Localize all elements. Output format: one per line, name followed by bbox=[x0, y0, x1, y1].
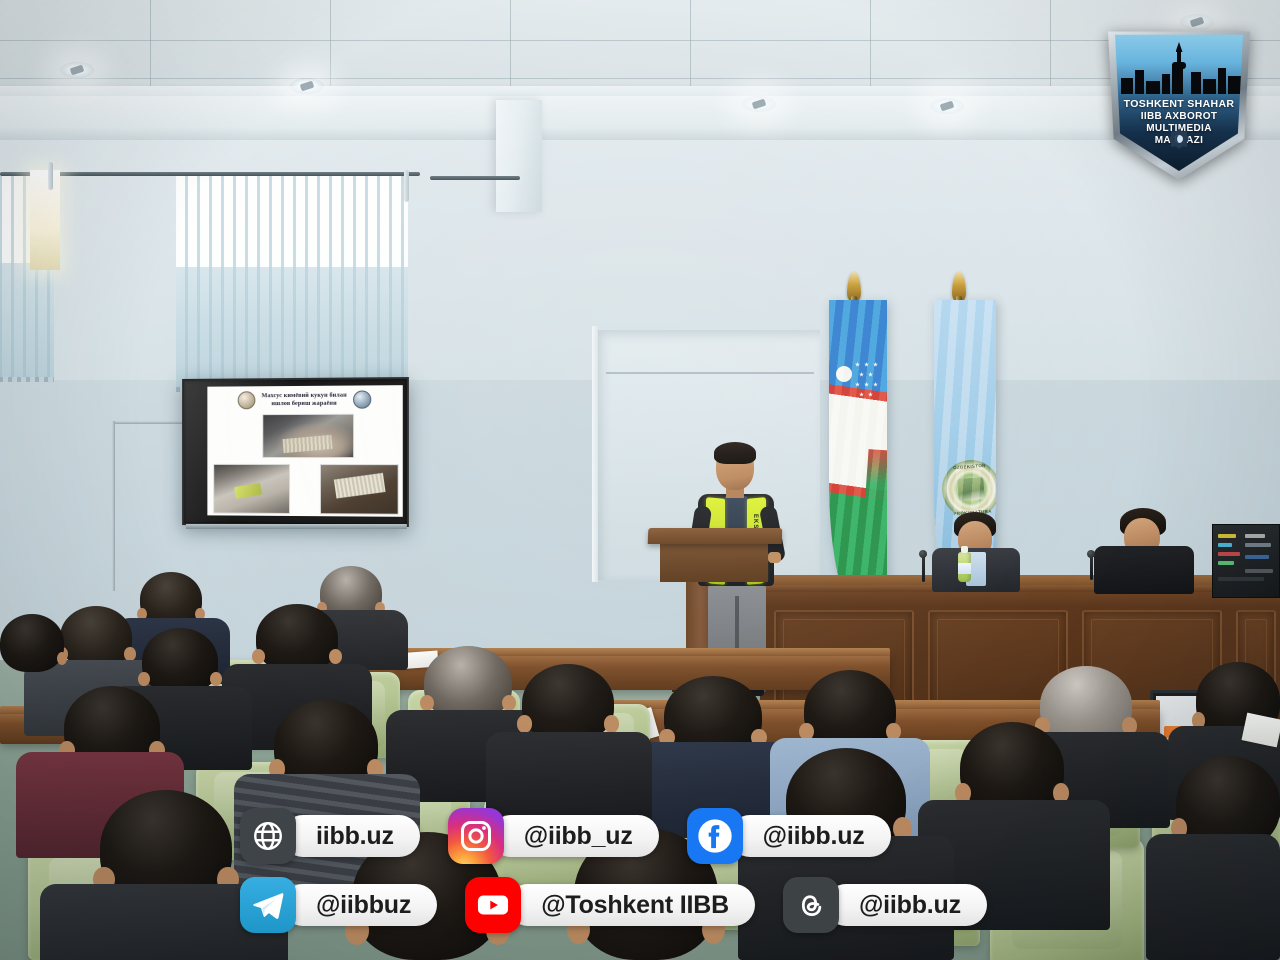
tashkent-skyline-icon bbox=[1115, 48, 1243, 94]
ceiling-spotlight-icon bbox=[742, 96, 776, 112]
audience-member bbox=[60, 606, 132, 668]
ceiling-spotlight-icon bbox=[930, 98, 964, 114]
ceiling-spotlight-icon bbox=[290, 78, 324, 94]
youtube-icon[interactable] bbox=[465, 877, 521, 933]
alcove-edge bbox=[592, 326, 598, 582]
slide-photo bbox=[262, 414, 354, 458]
social-item-facebook[interactable]: @iibb.uz bbox=[687, 808, 891, 864]
website-handle[interactable]: iibb.uz bbox=[282, 815, 420, 857]
audience-shoulders bbox=[1146, 834, 1280, 960]
ceiling-soffit bbox=[0, 96, 1280, 142]
photo-canvas: Махсус кимёвий кукун билан ишлов бериш ж… bbox=[0, 0, 1280, 960]
audience-member bbox=[522, 664, 614, 742]
alcove-trim-line bbox=[606, 372, 814, 374]
globe-icon[interactable] bbox=[240, 808, 296, 864]
facebook-icon[interactable] bbox=[687, 808, 743, 864]
ceiling-column-box bbox=[496, 100, 542, 212]
youtube-handle[interactable]: @Toshkent IIBB bbox=[507, 884, 755, 926]
curtain-rail bbox=[430, 176, 520, 180]
slide-photo bbox=[320, 464, 399, 515]
police-star-icon bbox=[1169, 129, 1189, 149]
microphone bbox=[1090, 556, 1093, 580]
seated-official bbox=[928, 512, 1024, 590]
seated-official bbox=[1094, 508, 1196, 594]
screen-base-trim bbox=[186, 524, 407, 529]
podium-body bbox=[660, 542, 768, 582]
slide-header: Махсус кимёвий кукун билан ишлов бериш ж… bbox=[207, 385, 402, 412]
blind-wand[interactable] bbox=[48, 162, 53, 190]
social-item-website[interactable]: iibb.uz bbox=[240, 808, 420, 864]
social-item-youtube[interactable]: @Toshkent IIBB bbox=[465, 877, 755, 933]
social-item-instagram[interactable]: @iibb_uz bbox=[448, 808, 659, 864]
uzbekistan-flag bbox=[829, 300, 887, 600]
microphone bbox=[922, 556, 925, 582]
logo-line-2: IIBB AXBOROT bbox=[1119, 111, 1239, 123]
audience-member bbox=[0, 614, 64, 672]
slide-photo-grid bbox=[207, 414, 402, 519]
water-bottle bbox=[958, 552, 971, 582]
social-media-bar: iibb.uz @iibb_uz bbox=[240, 808, 1060, 946]
blind-wand[interactable] bbox=[404, 170, 409, 202]
emblem-seal-icon bbox=[353, 390, 371, 408]
ceiling-spotlight-icon bbox=[60, 62, 94, 78]
podium-lectern-top bbox=[648, 528, 783, 544]
microphone-head-icon bbox=[919, 550, 927, 558]
emblem-seal-icon bbox=[238, 391, 256, 409]
instagram-handle[interactable]: @iibb_uz bbox=[490, 815, 659, 857]
telegram-icon[interactable] bbox=[240, 877, 296, 933]
threads-handle[interactable]: @iibb.uz bbox=[825, 884, 987, 926]
audience-member bbox=[424, 646, 512, 720]
slide-title: Махсус кимёвий кукун билан ишлов бериш ж… bbox=[262, 391, 347, 408]
social-item-threads[interactable]: @iibb.uz bbox=[783, 877, 987, 933]
av-equipment-rack bbox=[1212, 524, 1280, 598]
social-row-2: @iibbuz @Toshkent IIBB @iibb.uz bbox=[240, 877, 1060, 933]
telegram-handle[interactable]: @iibbuz bbox=[282, 884, 437, 926]
threads-icon[interactable] bbox=[783, 877, 839, 933]
slide-photo bbox=[213, 464, 290, 514]
window-center bbox=[176, 176, 408, 392]
logo-line-1: TOSHKENT SHAHAR bbox=[1119, 98, 1239, 111]
microphone-head-icon bbox=[1087, 550, 1095, 558]
screen-mount-rail bbox=[112, 421, 115, 591]
social-item-telegram[interactable]: @iibbuz bbox=[240, 877, 437, 933]
slide-content: Махсус кимёвий кукун билан ишлов бериш ж… bbox=[207, 385, 402, 517]
window-daylight bbox=[30, 170, 60, 270]
multimedia-center-logo: TOSHKENT SHAHAR IIBB AXBOROT MULTIMEDIA … bbox=[1108, 22, 1250, 180]
audience-member bbox=[142, 628, 218, 694]
slide-title-line2: ишлов бериш жараёни bbox=[262, 400, 347, 409]
presentation-screen: Махсус кимёвий кукун билан ишлов бериш ж… bbox=[182, 377, 409, 527]
audience-member bbox=[256, 604, 338, 672]
instagram-icon[interactable] bbox=[448, 808, 504, 864]
facebook-handle[interactable]: @iibb.uz bbox=[729, 815, 891, 857]
social-row-1: iibb.uz @iibb_uz bbox=[240, 808, 1060, 864]
